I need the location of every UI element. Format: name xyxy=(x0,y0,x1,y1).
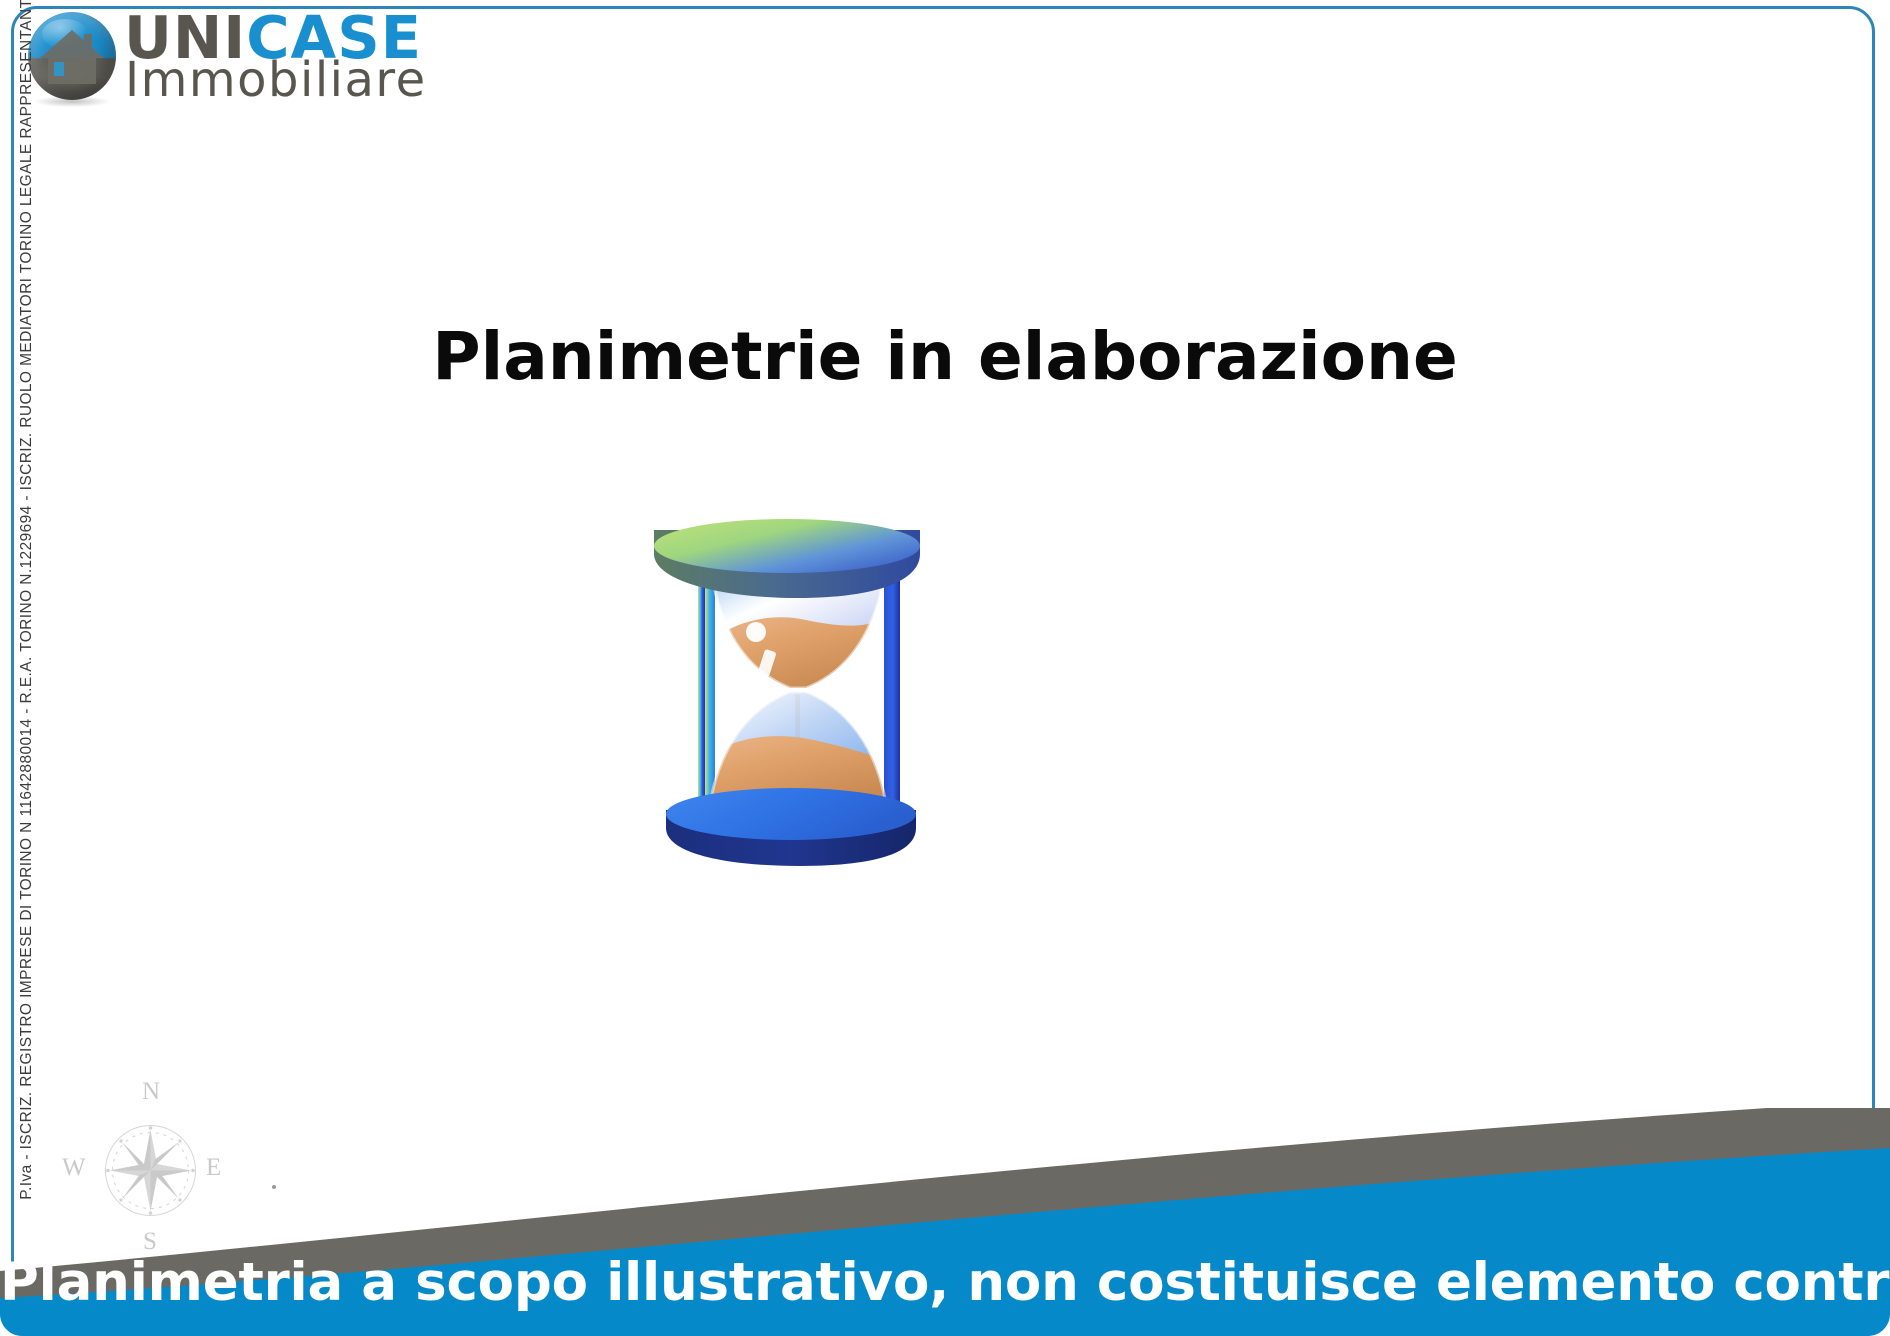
slide-page: UNICASE Immobiliare P.Iva - ISCRIZ. REGI… xyxy=(0,0,1890,1336)
house-icon xyxy=(28,12,116,100)
hourglass-highlight-dot xyxy=(746,622,766,642)
logo-sphere-house-icon xyxy=(28,12,116,100)
hourglass-icon xyxy=(628,510,968,870)
hourglass-base-disc xyxy=(666,788,916,866)
hourglass-top-disc xyxy=(654,519,920,598)
unicase-logo[interactable]: UNICASE Immobiliare xyxy=(24,6,494,111)
compass-label-north: N xyxy=(142,1078,160,1106)
legal-vertical-strip: P.Iva - ISCRIZ. REGISTRO IMPRESE DI TORI… xyxy=(16,160,38,1200)
logo-wordmark: UNICASE Immobiliare xyxy=(124,6,494,108)
logo-text-immobiliare: Immobiliare xyxy=(125,56,427,104)
legal-vertical-text: P.Iva - ISCRIZ. REGISTRO IMPRESE DI TORI… xyxy=(18,0,36,1200)
footer-disclaimer-text: Planimetria a scopo illustrativo, non co… xyxy=(0,1252,1890,1313)
hourglass-post-right xyxy=(884,568,900,818)
page-title: Planimetrie in elaborazione xyxy=(0,318,1890,395)
hourglass-post-left xyxy=(698,568,705,818)
